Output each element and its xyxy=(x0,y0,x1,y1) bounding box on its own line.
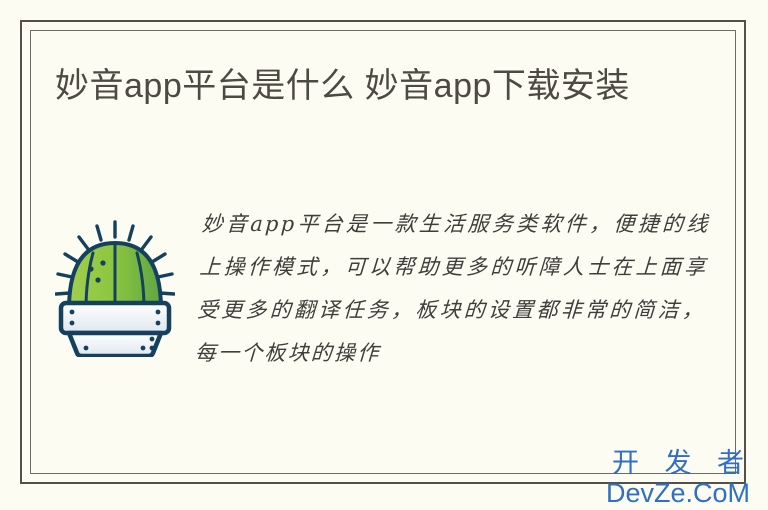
article-body: 妙音app平台是一款生活服务类软件，便捷的线上操作模式，可以帮助更多的听障人士在… xyxy=(55,199,711,449)
page-title: 妙音app平台是什么 妙音app下载安装 xyxy=(55,63,685,109)
article-page: 妙音app平台是什么 妙音app下载安装 xyxy=(0,0,768,510)
article-paragraph: 妙音app平台是一款生活服务类软件，便捷的线上操作模式，可以帮助更多的听障人士在… xyxy=(194,199,711,375)
watermark-latin-text: DevZe.CoM xyxy=(606,478,750,508)
article-content: 妙音app平台是什么 妙音app下载安装 xyxy=(31,31,735,473)
watermark-latin: DevZe.CoM xyxy=(590,478,766,508)
cactus-in-pot-icon xyxy=(55,217,175,357)
